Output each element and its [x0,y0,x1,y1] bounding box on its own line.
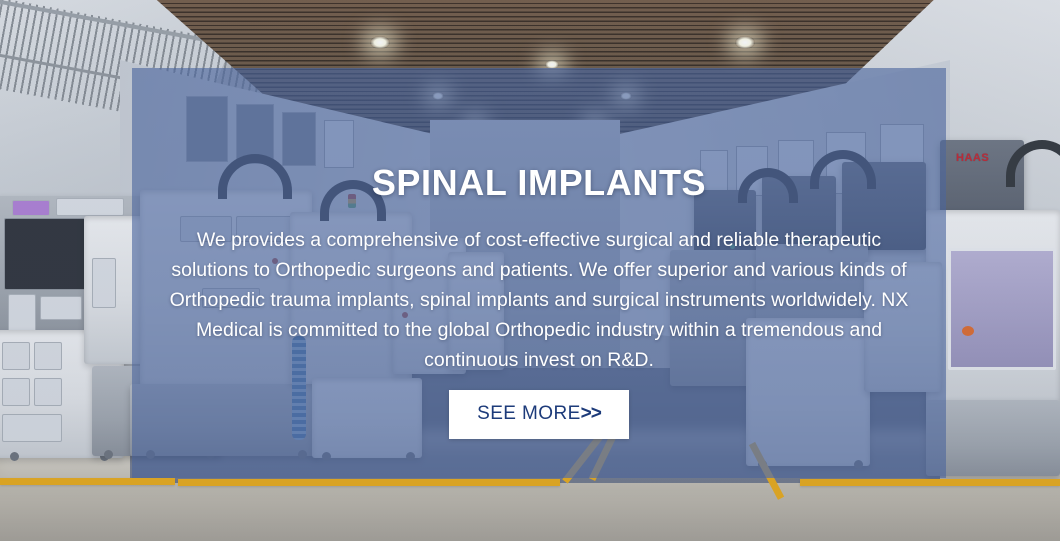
double-chevron-right-icon: >> [581,403,601,424]
page-title: SPINAL IMPLANTS [132,162,946,204]
cta-container: SEE MORE>> [132,390,946,439]
banner-description: We provides a comprehensive of cost-effe… [166,225,912,375]
hero-banner: HAAS SPINAL IMPLANTS We provides a compr… [0,0,1060,541]
overlay-panel: SPINAL IMPLANTS We provides a comprehens… [132,68,946,478]
see-more-label: SEE MORE [477,403,581,424]
see-more-button[interactable]: SEE MORE>> [449,390,629,439]
